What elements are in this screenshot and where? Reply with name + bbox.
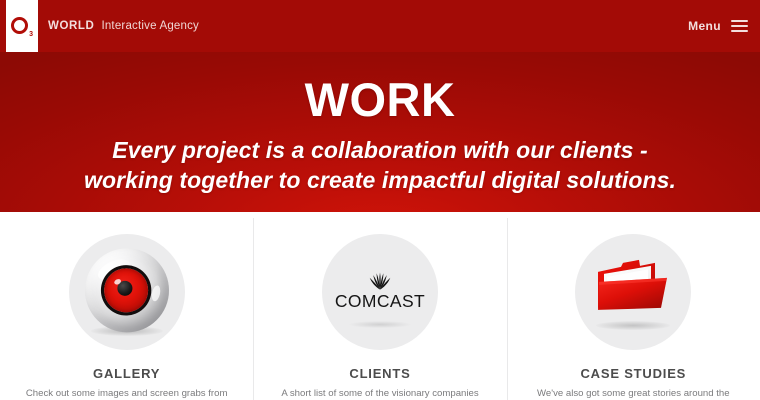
card-description: Check out some images and screen grabs f… xyxy=(23,387,231,400)
card-description: A short list of some of the visionary co… xyxy=(276,387,484,400)
hero-content: WORK Every project is a collaboration wi… xyxy=(0,52,760,212)
comcast-logo-icon: COMCAST xyxy=(322,234,438,350)
page-title: WORK xyxy=(0,76,760,123)
hamburger-icon[interactable] xyxy=(731,20,748,32)
folder-graphic xyxy=(593,258,673,320)
page-root: 3 WORLD Interactive Agency Menu WORK Eve… xyxy=(0,0,760,400)
eyeball-highlight-secondary xyxy=(151,285,162,302)
hamburger-bar-2 xyxy=(731,25,748,27)
card-title: GALLERY xyxy=(0,366,253,381)
brand-primary-label: WORLD xyxy=(48,20,94,32)
feature-cards: GALLERY Check out some images and screen… xyxy=(0,212,760,400)
menu-button[interactable]: Menu xyxy=(688,0,748,52)
comcast-wordmark: COMCAST xyxy=(326,293,434,311)
menu-label: Menu xyxy=(688,19,721,33)
site-header: 3 WORLD Interactive Agency Menu xyxy=(0,0,760,52)
card-clients[interactable]: COMCAST CLIENTS A short list of some of … xyxy=(253,212,506,400)
card-title: CASE STUDIES xyxy=(507,366,760,381)
hamburger-bar-1 xyxy=(731,20,748,22)
card-description: We've also got some great stories around… xyxy=(529,387,737,400)
o3-ring-logo-icon: 3 xyxy=(11,15,33,37)
comcast-logo-shadow xyxy=(349,321,411,328)
logo-subscript: 3 xyxy=(29,31,33,38)
eyeball-icon xyxy=(69,234,185,350)
eyeball-iris xyxy=(104,268,148,312)
brand-secondary-label: Interactive Agency xyxy=(101,20,199,32)
card-case-studies[interactable]: CASE STUDIES We've also got some great s… xyxy=(507,212,760,400)
card-title: CLIENTS xyxy=(253,366,506,381)
hamburger-bar-3 xyxy=(731,30,748,32)
peacock-icon xyxy=(365,268,395,290)
hero-subtitle: Every project is a collaboration with ou… xyxy=(80,135,680,196)
brand-wordmark[interactable]: WORLD Interactive Agency xyxy=(48,0,199,52)
logo-ring-shape xyxy=(11,17,28,34)
card-gallery[interactable]: GALLERY Check out some images and screen… xyxy=(0,212,253,400)
logo[interactable]: 3 xyxy=(6,0,38,52)
folder-shadow xyxy=(596,321,670,330)
folder-icon xyxy=(575,234,691,350)
comcast-logo-group: COMCAST xyxy=(326,268,434,311)
eyeball-sphere xyxy=(85,248,169,332)
